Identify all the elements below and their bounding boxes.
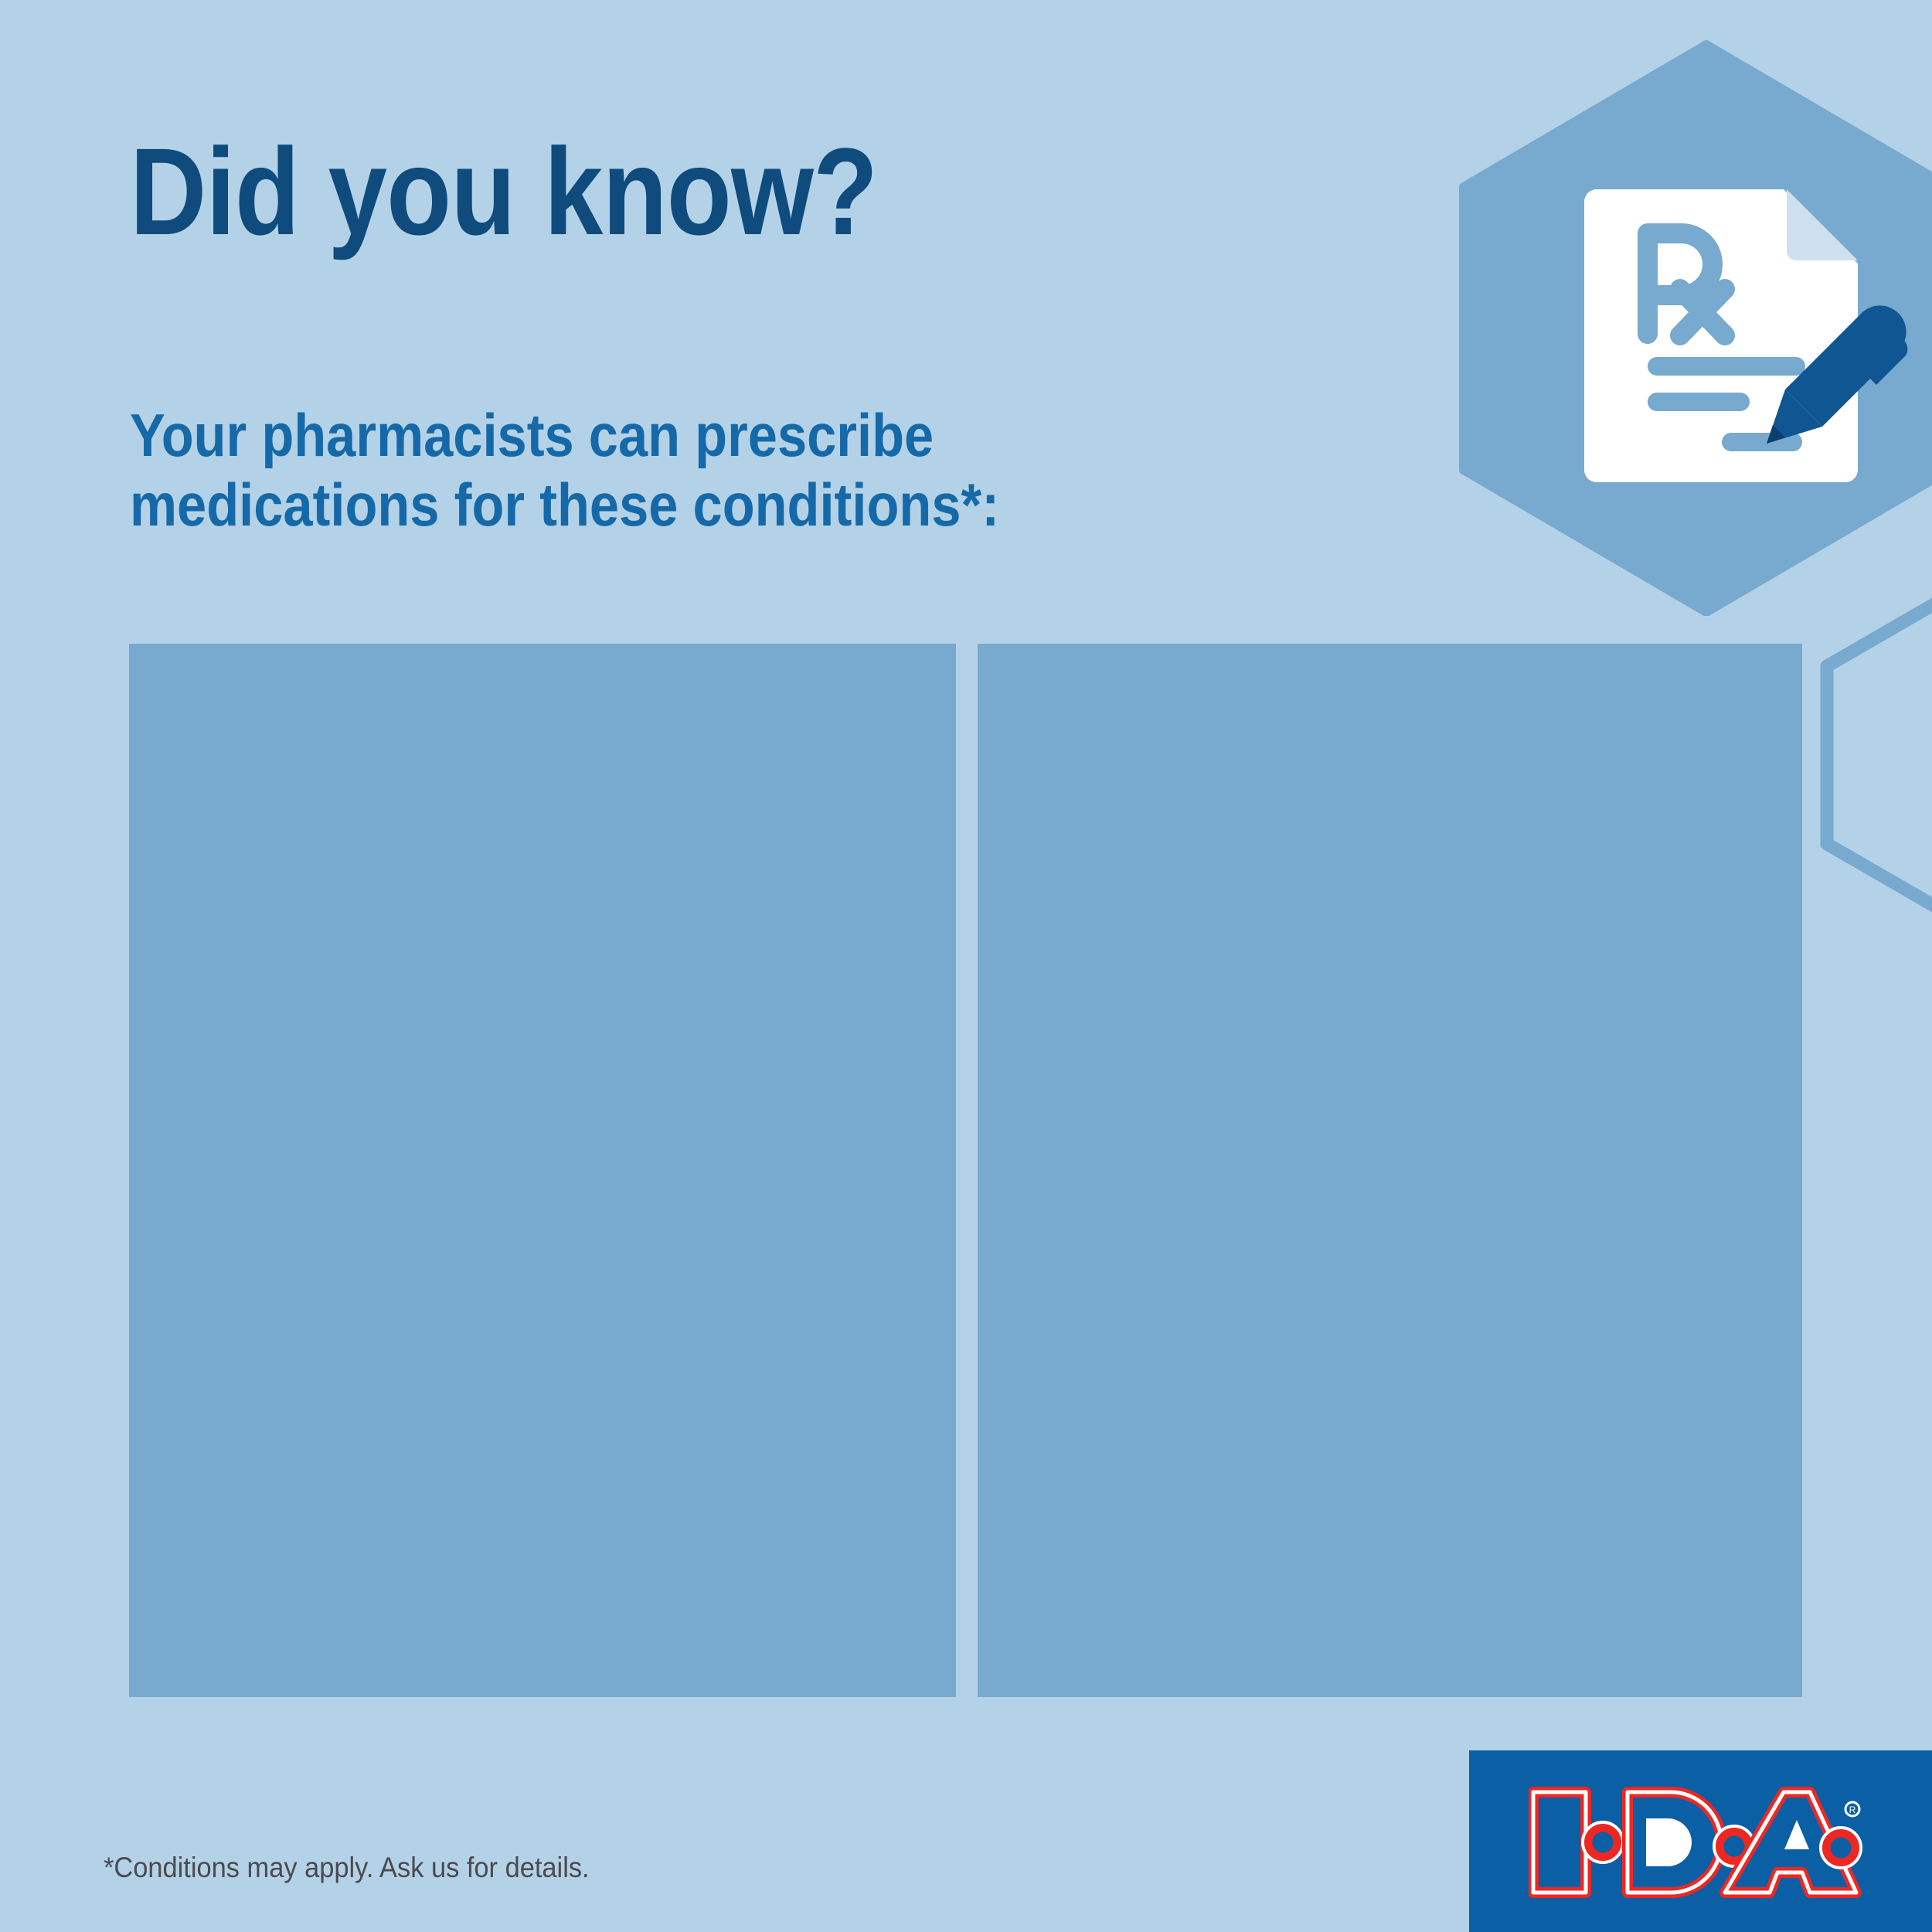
page-subtitle-line-2: medications for these conditions*:	[130, 470, 1286, 539]
registered-trademark-icon: R	[1845, 1802, 1859, 1816]
brand-logo-plate: R	[1469, 1750, 1932, 1932]
hexagon-outline-decoration	[1815, 573, 1932, 937]
page-title: Did you know?	[130, 130, 1193, 253]
ida-logo: R	[1529, 1784, 1869, 1900]
conditions-panel-left	[129, 644, 956, 1697]
conditions-panel-right	[978, 644, 1802, 1697]
page-subtitle: Your pharmacists can prescribe medicatio…	[130, 400, 1286, 540]
prescription-document-icon	[1584, 189, 1858, 482]
footnote-disclaimer: *Conditions may apply. Ask us for detail…	[104, 1852, 590, 1884]
poster-canvas: Did you know? Your pharmacists can presc…	[0, 0, 1932, 1932]
page-subtitle-line-1: Your pharmacists can prescribe	[130, 400, 1286, 470]
hexagon-icon-badge	[1459, 40, 1932, 616]
svg-text:R: R	[1849, 1804, 1856, 1815]
